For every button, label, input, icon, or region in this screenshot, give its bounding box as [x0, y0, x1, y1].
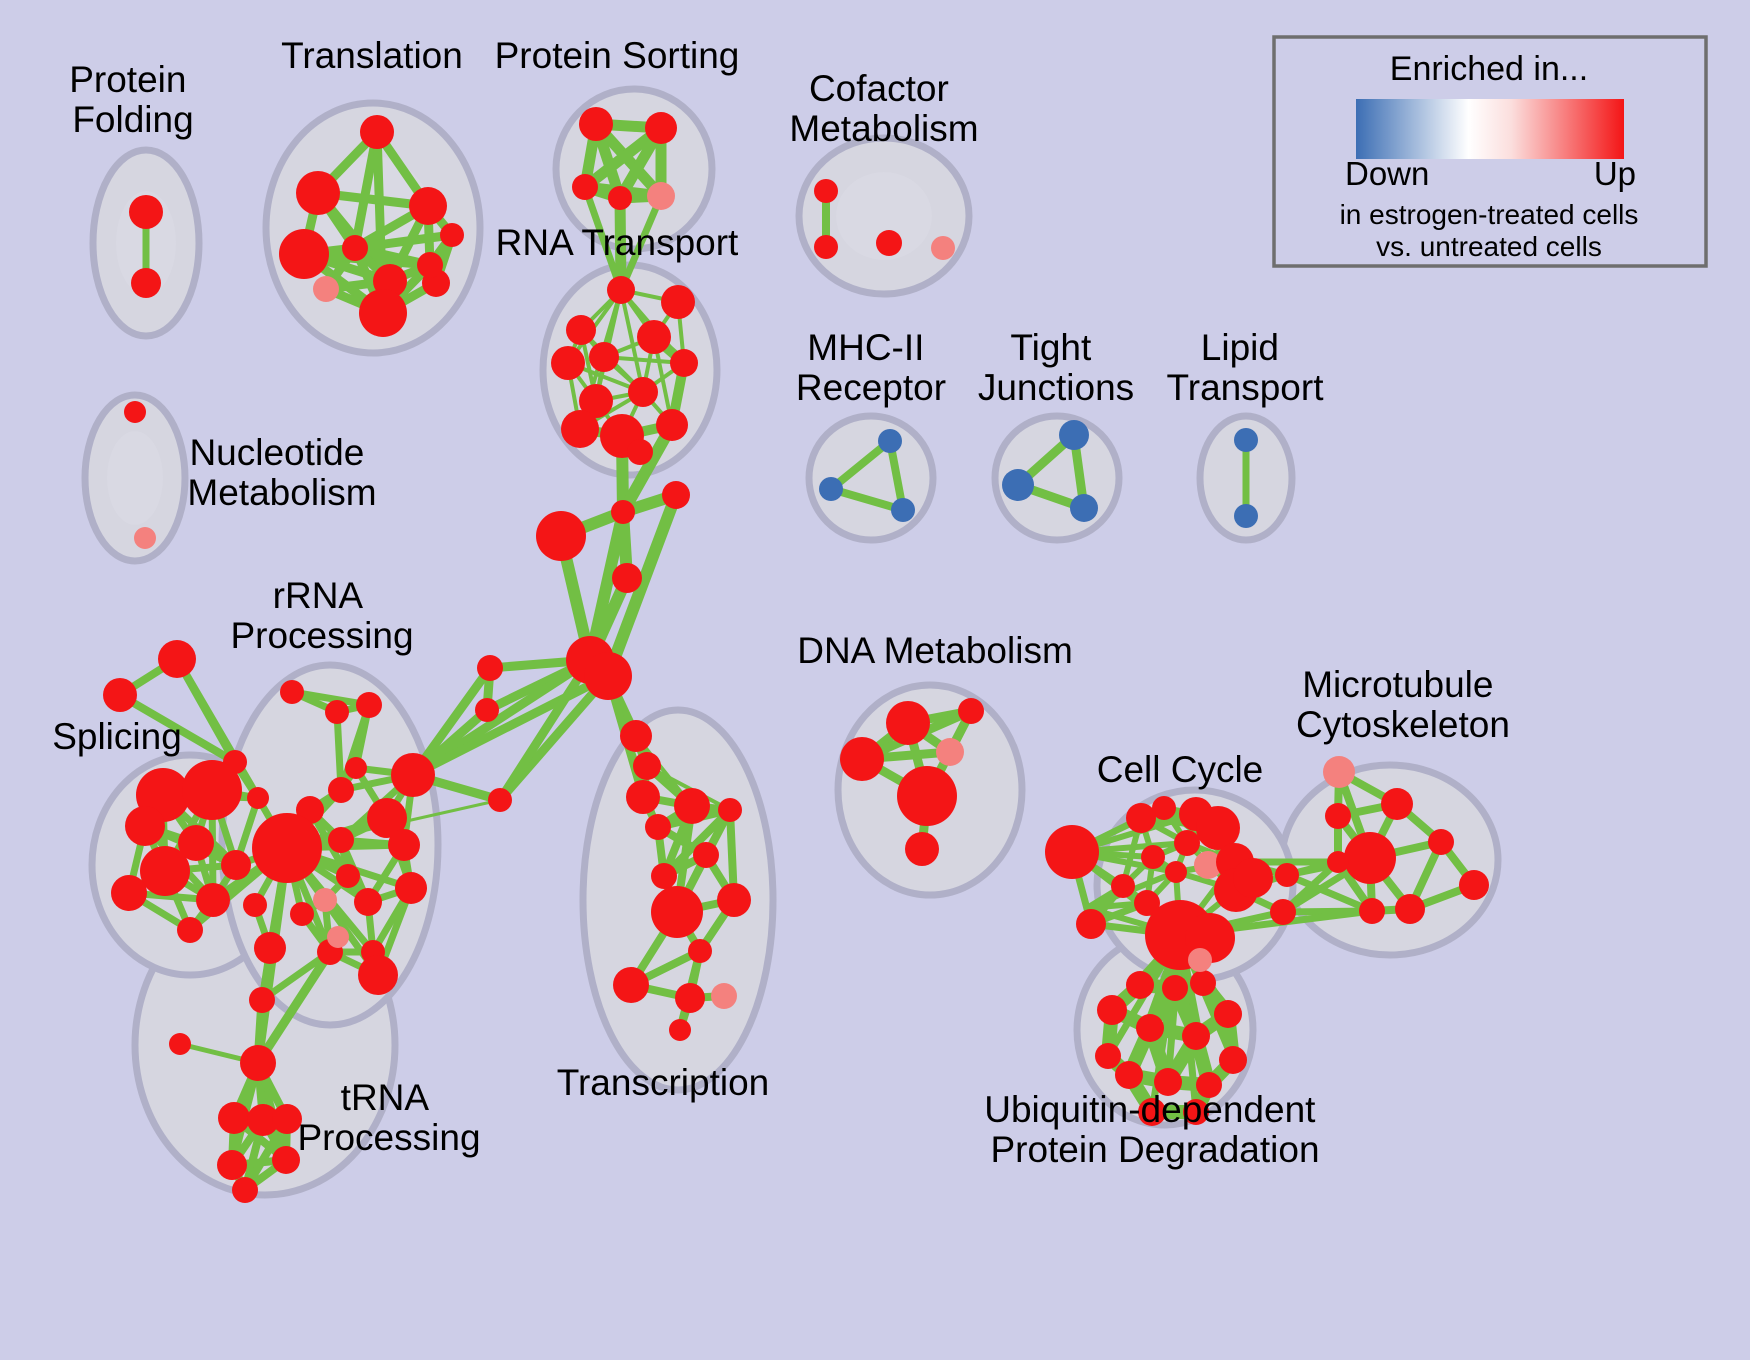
label-mhc-ii: MHC-II Receptor — [796, 327, 946, 408]
label-protein-folding-line-1: Protein — [69, 59, 186, 100]
label-ubiquitin: Ubiquitin-dependent Protein Degradation — [984, 1089, 1325, 1170]
legend-up-label: Up — [1594, 155, 1636, 192]
label-protein-sorting: Protein Sorting — [495, 35, 740, 76]
label-splicing: Splicing — [52, 716, 182, 757]
label-protein-folding: Protein Folding — [69, 59, 197, 140]
label-cell-cycle: Cell Cycle — [1097, 749, 1264, 790]
network-canvas: Protein Folding Translation Protein Sort… — [0, 0, 1750, 1360]
label-protein-folding-line-2: Folding — [72, 99, 193, 140]
enrichment-map-figure: Protein Folding Translation Protein Sort… — [0, 0, 1750, 1360]
legend-title: Enriched in... — [1390, 50, 1588, 88]
label-microtubule: Microtubule Cytoskeleton — [1296, 664, 1510, 745]
legend-subtitle-line-2: vs. untreated cells — [1376, 231, 1602, 262]
label-transcription: Transcription — [557, 1062, 769, 1103]
label-rna-transport: RNA Transport — [496, 222, 739, 263]
label-cofactor-metabolism: Cofactor Metabolism — [789, 68, 978, 149]
legend-down-label: Down — [1345, 155, 1429, 192]
legend: Enriched in... Down Up in estrogen-treat… — [1274, 37, 1706, 266]
label-dna-metabolism: DNA Metabolism — [797, 630, 1073, 671]
label-nucleotide-metabolism: Nucleotide Metabolism — [187, 432, 376, 513]
legend-subtitle-line-1: in estrogen-treated cells — [1340, 199, 1639, 230]
legend-color-bar — [1356, 99, 1624, 159]
label-translation: Translation — [281, 35, 463, 76]
